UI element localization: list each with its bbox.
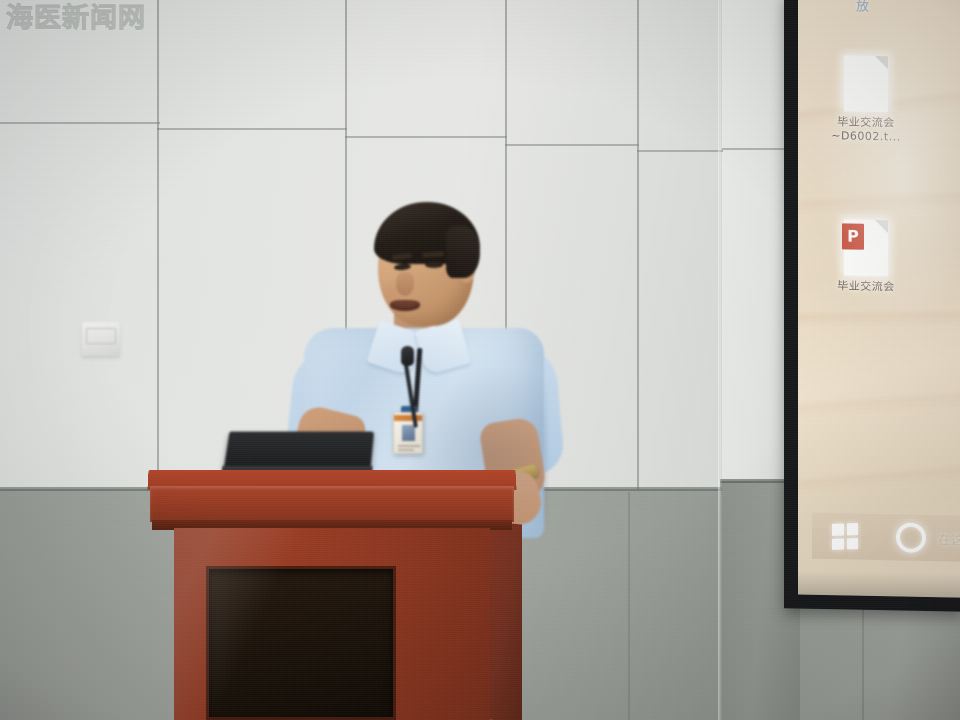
badge-text-line-1 (398, 445, 420, 447)
wall-seam-horizontal-4 (505, 144, 639, 146)
wall-seam-vertical-4 (637, 0, 639, 492)
id-badge (393, 412, 423, 454)
wall-seam-horizontal-3 (345, 136, 507, 138)
badge-text-line-2 (398, 449, 414, 451)
projection-screen-frame: 放 毕业交流会 ~D6002.t... P 毕业交流会 (784, 0, 960, 612)
speaker-hair-side (446, 226, 480, 278)
wall-seam-vertical-1 (157, 0, 159, 492)
screen-bottom-shadow (798, 571, 960, 598)
speaker-nose (396, 272, 414, 296)
podium-recessed-panel (206, 566, 396, 720)
wainscot-seam-3 (628, 492, 630, 720)
badge-photo (402, 425, 415, 441)
wall-outlet-plate (82, 322, 120, 356)
wall-seam-horizontal-2 (157, 128, 347, 130)
projection-screen-surface: 放 毕业交流会 ~D6002.t... P 毕业交流会 (798, 0, 960, 598)
clip-microphone-icon (401, 346, 414, 366)
watermark-text: 海医新闻网 (6, 2, 146, 36)
podium-front-band (150, 486, 514, 522)
wooden-podium (148, 470, 516, 720)
wainscot-seam-4 (862, 604, 864, 720)
speaker-mouth (390, 300, 420, 311)
badge-header-strip (394, 415, 422, 421)
presentation-photo-scene: 海医新闻网 放 毕业交流会 ~D6002.t... P 毕业交流会 (0, 0, 960, 720)
screen-glare-overlay (798, 0, 960, 598)
wall-seam-horizontal-6 (722, 148, 792, 150)
speaker-eye-right (425, 262, 443, 268)
wall-seam-horizontal-1 (0, 122, 160, 124)
wall-corner-edge (718, 0, 722, 720)
wall-lower-wainscot-far (800, 600, 960, 720)
wall-seam-horizontal-5 (637, 150, 723, 152)
